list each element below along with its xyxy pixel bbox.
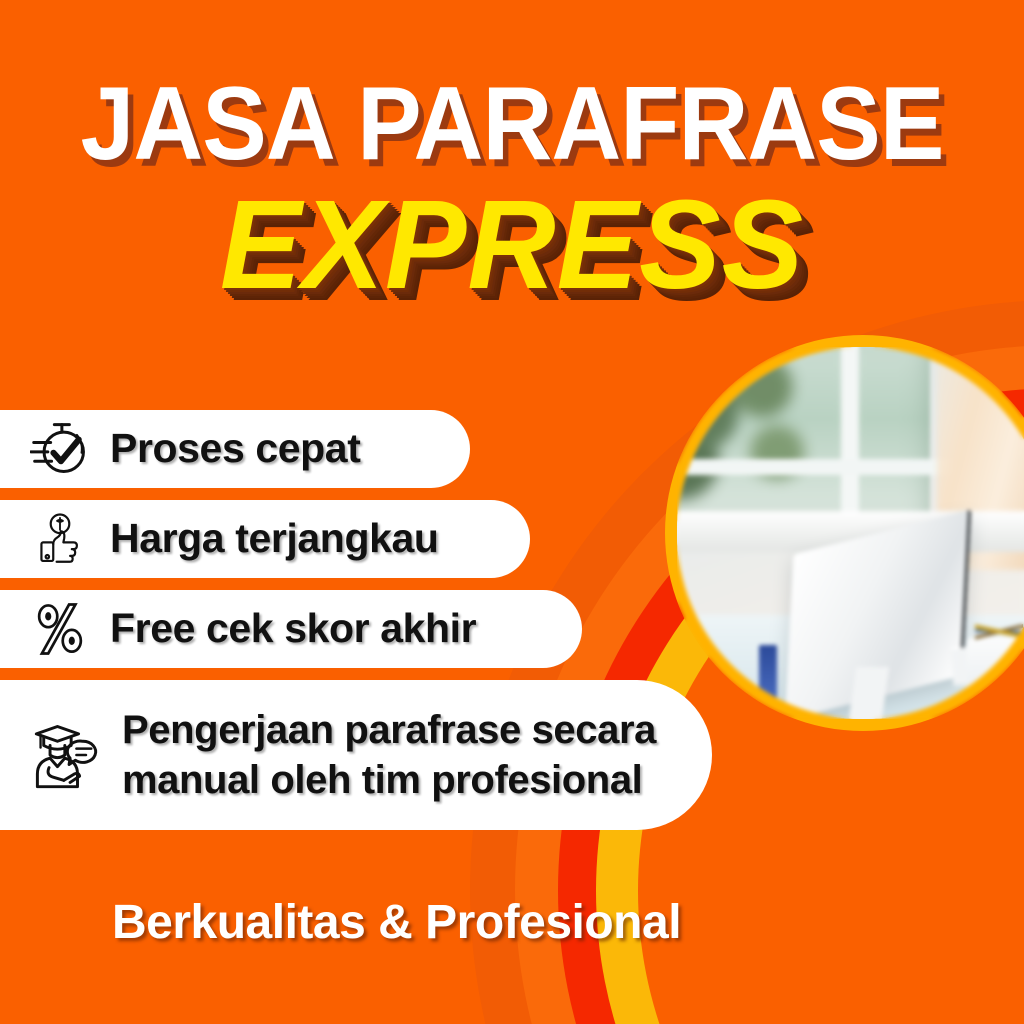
feature-label: Harga terjangkau (110, 515, 439, 563)
page-title-accent: EXPRESS (15, 182, 1008, 308)
photo-ring (665, 335, 1024, 731)
feature-label: Free cek skor akhir (110, 605, 476, 653)
feature-pill-harga-terjangkau: Harga terjangkau (0, 500, 530, 578)
thumbs-up-dollar-icon (26, 505, 94, 573)
feature-pill-free-cek-skor: Free cek skor akhir (0, 590, 582, 668)
tagline: Berkualitas & Profesional (112, 895, 681, 950)
promo-poster: JASA PARAFRASE EXPRESS Proses cepat (0, 0, 1024, 1024)
percent-icon (26, 595, 94, 663)
feature-pill-pengerjaan-manual: Pengerjaan parafrase secara manual oleh … (0, 680, 712, 830)
page-title: JASA PARAFRASE (36, 72, 988, 176)
feature-label: Pengerjaan parafrase secara manual oleh … (122, 705, 656, 806)
feature-label: Proses cepat (110, 425, 360, 473)
stopwatch-check-icon (26, 415, 94, 483)
photo-blur-overlay (677, 347, 1024, 719)
workspace-photo (677, 347, 1024, 719)
feature-pill-proses-cepat: Proses cepat (0, 410, 470, 488)
graduate-speech-icon (26, 713, 110, 797)
